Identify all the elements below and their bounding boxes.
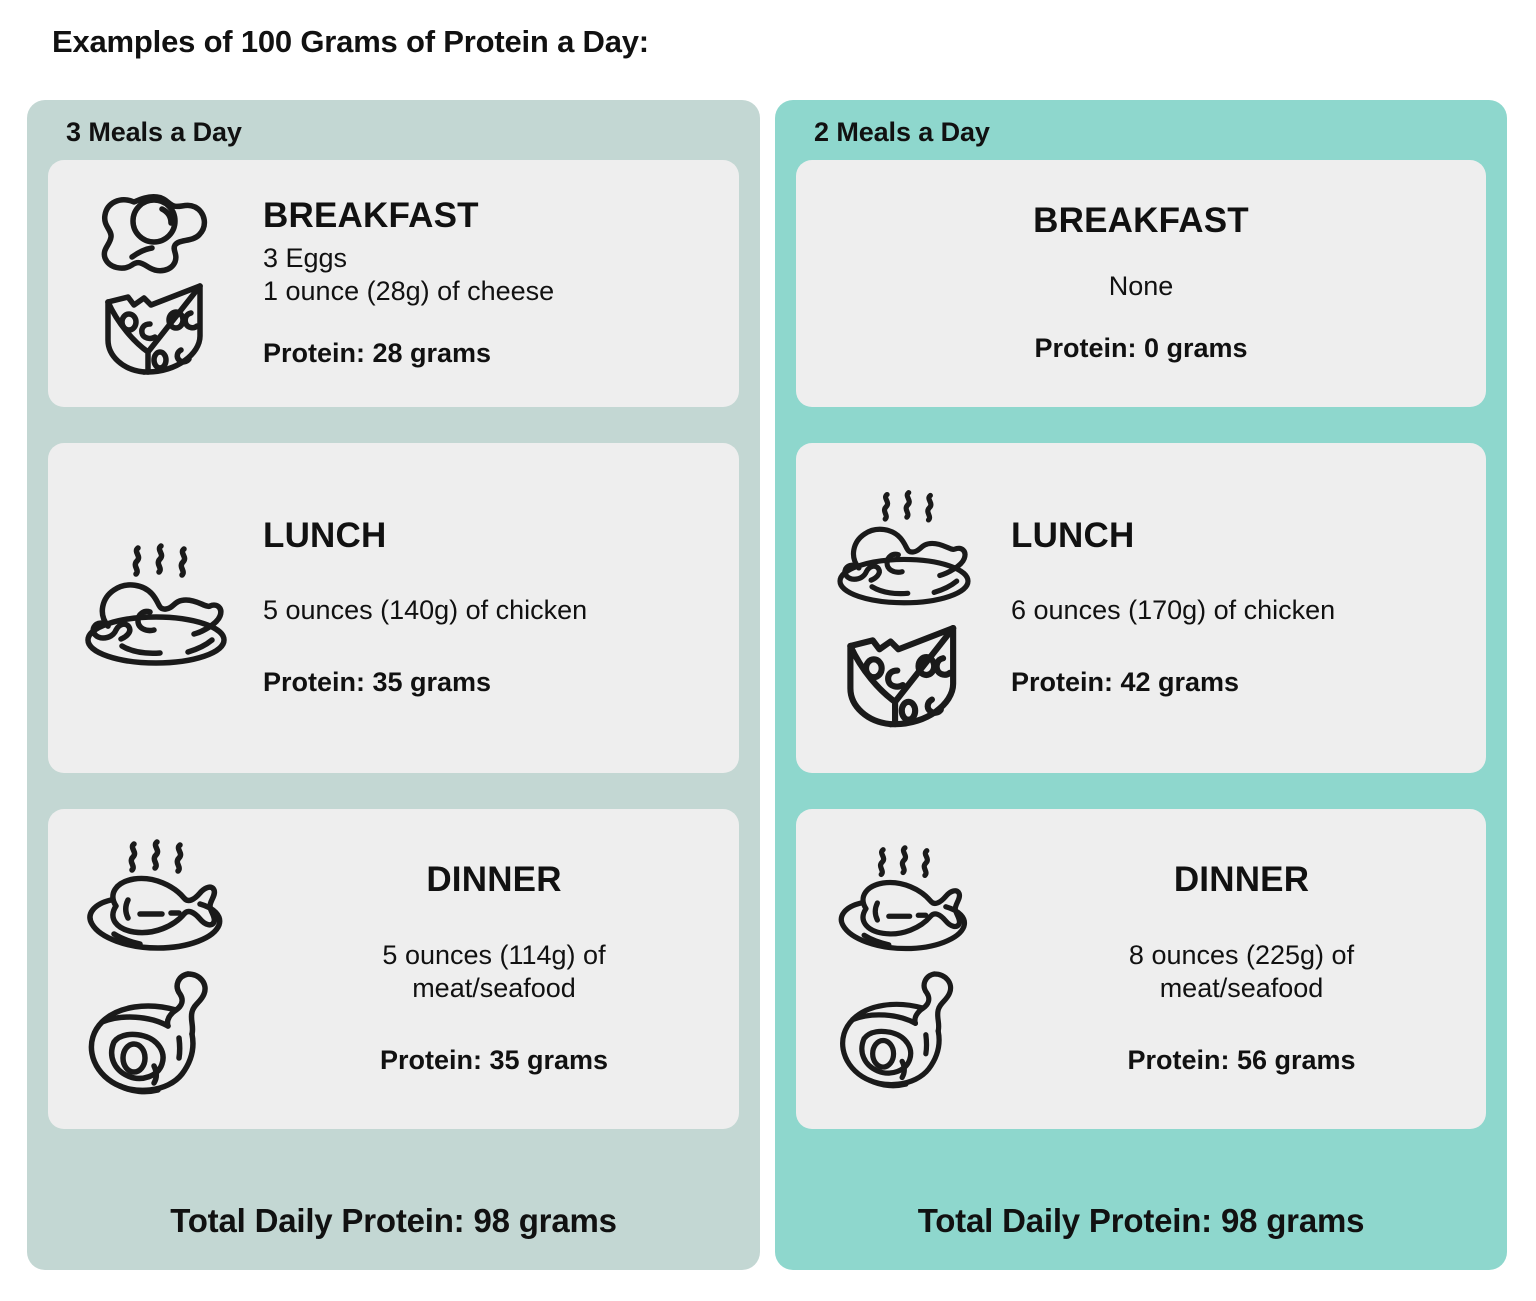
meal-card-lunch-right[interactable]: LUNCH 6 ounces (170g) of chicken Protein… bbox=[796, 443, 1486, 773]
icon-group-dinner-right bbox=[796, 844, 1011, 1094]
text-block-lunch-right: LUNCH 6 ounces (170g) of chicken Protein… bbox=[1011, 518, 1486, 699]
meal-title-lunch-right: LUNCH bbox=[1011, 518, 1134, 555]
text-block-breakfast-left: BREAKFAST 3 Eggs 1 ounce (28g) of cheese… bbox=[263, 198, 739, 370]
fish-plate-icon bbox=[76, 838, 236, 960]
meal-stack-right: BREAKFAST None Protein: 0 grams bbox=[775, 160, 1507, 1177]
meal-line-lunch-right-1: 6 ounces (170g) of chicken bbox=[1011, 594, 1335, 627]
text-block-dinner-left: DINNER 5 ounces (114g) of meat/seafood P… bbox=[263, 862, 739, 1076]
meal-card-breakfast-left[interactable]: BREAKFAST 3 Eggs 1 ounce (28g) of cheese… bbox=[48, 160, 739, 407]
meal-line-breakfast-left-2: 1 ounce (28g) of cheese bbox=[263, 275, 554, 308]
meal-protein-breakfast-left: Protein: 28 grams bbox=[263, 338, 491, 369]
meal-title-dinner-left: DINNER bbox=[426, 862, 561, 899]
panel-columns: 3 Meals a Day bbox=[27, 100, 1507, 1270]
text-block-breakfast-right: BREAKFAST None Protein: 0 grams bbox=[796, 203, 1486, 364]
meal-title-breakfast-right: BREAKFAST bbox=[1033, 203, 1249, 240]
icon-group-lunch-left bbox=[48, 540, 263, 676]
meal-protein-dinner-right: Protein: 56 grams bbox=[1127, 1045, 1355, 1076]
cheese-wedge-icon bbox=[96, 280, 216, 376]
roast-chicken-icon bbox=[828, 487, 980, 615]
cheese-wedge-icon bbox=[837, 621, 971, 729]
panel-heading-3-meals: 3 Meals a Day bbox=[27, 100, 760, 160]
meal-card-dinner-left[interactable]: DINNER 5 ounces (114g) of meat/seafood P… bbox=[48, 809, 739, 1129]
meal-line-breakfast-left-1: 3 Eggs bbox=[263, 242, 347, 275]
meal-protein-lunch-left: Protein: 35 grams bbox=[263, 667, 491, 698]
total-daily-protein-right: Total Daily Protein: 98 grams bbox=[775, 1177, 1507, 1270]
fish-plate-icon bbox=[828, 844, 980, 960]
meal-title-lunch-left: LUNCH bbox=[263, 518, 386, 555]
total-daily-protein-left: Total Daily Protein: 98 grams bbox=[27, 1177, 760, 1270]
text-block-lunch-left: LUNCH 5 ounces (140g) of chicken Protein… bbox=[263, 518, 739, 699]
meal-protein-dinner-left: Protein: 35 grams bbox=[380, 1045, 608, 1076]
icon-group-breakfast-left bbox=[48, 192, 263, 376]
text-block-dinner-right: DINNER 8 ounces (225g) of meat/seafood P… bbox=[1011, 862, 1486, 1076]
panel-3-meals-a-day: 3 Meals a Day bbox=[27, 100, 760, 1270]
icon-group-lunch-right bbox=[796, 487, 1011, 729]
ham-hock-icon bbox=[828, 966, 980, 1094]
protein-infographic: Examples of 100 Grams of Protein a Day: … bbox=[0, 0, 1536, 1301]
meal-line-breakfast-right-1: None bbox=[1109, 270, 1174, 303]
roast-chicken-icon bbox=[76, 540, 236, 676]
panel-heading-2-meals: 2 Meals a Day bbox=[775, 100, 1507, 160]
meal-line-dinner-right-1: 8 ounces (225g) of bbox=[1129, 939, 1354, 972]
meal-card-lunch-left[interactable]: LUNCH 5 ounces (140g) of chicken Protein… bbox=[48, 443, 739, 773]
ham-hock-icon bbox=[76, 966, 236, 1100]
fried-egg-icon bbox=[96, 192, 216, 274]
meal-protein-breakfast-right: Protein: 0 grams bbox=[1034, 333, 1247, 364]
meal-line-dinner-left-1: 5 ounces (114g) of bbox=[382, 939, 605, 972]
meal-line-dinner-right-2: meat/seafood bbox=[1160, 972, 1324, 1005]
meal-title-breakfast-left: BREAKFAST bbox=[263, 198, 479, 235]
panel-2-meals-a-day: 2 Meals a Day BREAKFAST None Protein: 0 … bbox=[775, 100, 1507, 1270]
icon-group-dinner-left bbox=[48, 838, 263, 1100]
meal-card-breakfast-right[interactable]: BREAKFAST None Protein: 0 grams bbox=[796, 160, 1486, 407]
meal-stack-left: BREAKFAST 3 Eggs 1 ounce (28g) of cheese… bbox=[27, 160, 760, 1177]
meal-protein-lunch-right: Protein: 42 grams bbox=[1011, 667, 1239, 698]
page-title: Examples of 100 Grams of Protein a Day: bbox=[52, 24, 649, 60]
meal-line-lunch-left-1: 5 ounces (140g) of chicken bbox=[263, 594, 587, 627]
meal-title-dinner-right: DINNER bbox=[1174, 862, 1309, 899]
meal-card-dinner-right[interactable]: DINNER 8 ounces (225g) of meat/seafood P… bbox=[796, 809, 1486, 1129]
meal-line-dinner-left-2: meat/seafood bbox=[412, 972, 576, 1005]
